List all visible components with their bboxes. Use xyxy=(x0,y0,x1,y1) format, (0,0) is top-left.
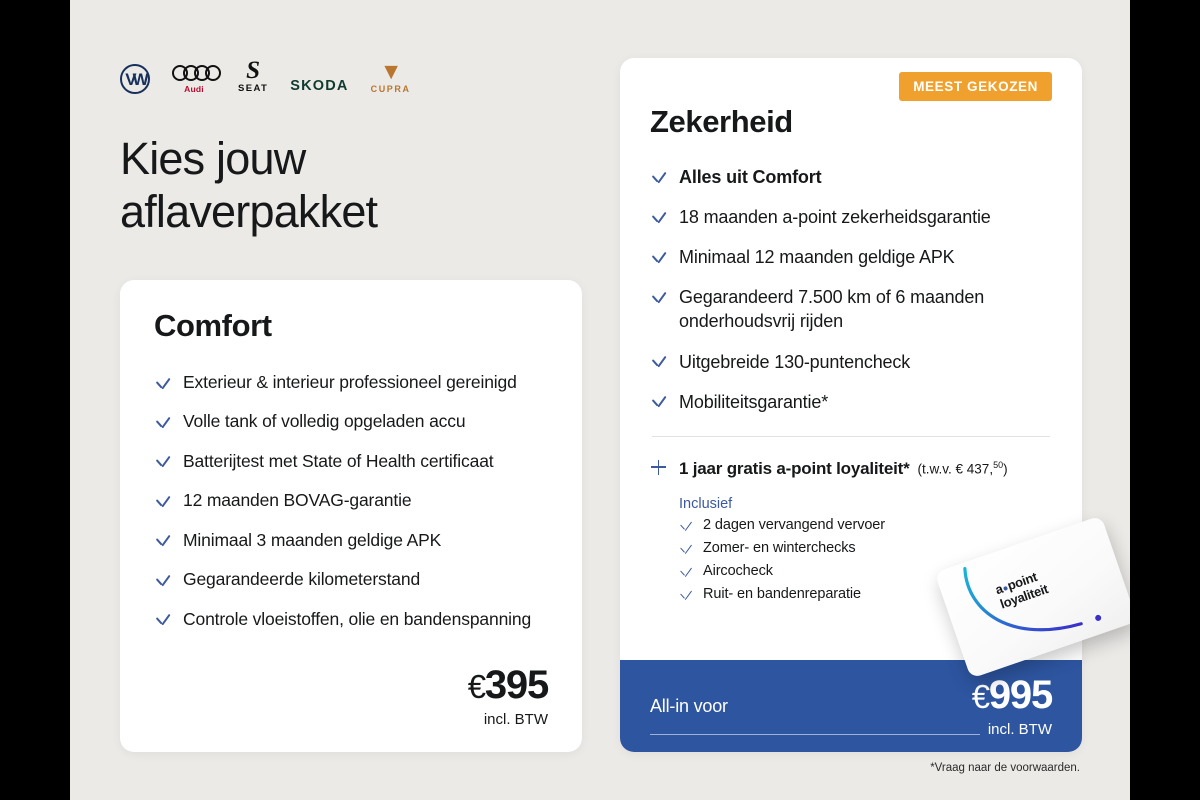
list-item: Gegarandeerd 7.500 km of 6 maanden onder… xyxy=(650,285,1052,333)
seat-s-icon: S xyxy=(246,60,260,83)
package-card-comfort: Comfort Exterieur & interieur profession… xyxy=(120,280,582,752)
list-item: Gegarandeerde kilometerstand xyxy=(154,568,548,591)
skoda-logo: SKODA xyxy=(290,78,348,94)
cupra-tribal-icon: ▼ xyxy=(380,62,402,82)
list-item: Controle vloeistoffen, olie en bandenspa… xyxy=(154,608,548,631)
zekerheid-price-block: €995 incl. BTW xyxy=(972,675,1052,738)
audi-logo: Audi xyxy=(172,65,216,94)
cupra-logo: ▼ CUPRA xyxy=(371,62,411,94)
sub-feature-label: 2 dagen vervangend vervoer xyxy=(703,517,885,533)
euro-symbol: € xyxy=(468,668,485,705)
check-icon xyxy=(679,566,693,580)
zekerheid-title: Zekerheid xyxy=(650,106,1052,137)
plus-icon xyxy=(650,459,667,476)
list-item: Volle tank of volledig opgeladen accu xyxy=(154,410,548,433)
comfort-title: Comfort xyxy=(154,310,548,341)
feature-label: Batterijtest met State of Health certifi… xyxy=(183,450,494,473)
list-item: 12 maanden BOVAG-garantie xyxy=(154,489,548,512)
zekerheid-price-amount: 995 xyxy=(989,673,1052,717)
feature-label: 18 maanden a-point zekerheidsgarantie xyxy=(679,205,991,229)
list-item: Uitgebreide 130-puntencheck xyxy=(650,350,1052,374)
volkswagen-logo: VW xyxy=(120,64,150,94)
loyalty-header: 1 jaar gratis a-point loyaliteit* (t.w.v… xyxy=(650,457,1052,479)
screenshot-stage: VW Audi S SEAT SKODA ▼ CUPRA Kies jouw a… xyxy=(0,0,1200,800)
sub-feature-label: Zomer- en winterchecks xyxy=(703,540,856,556)
list-item: Minimaal 12 maanden geldige APK xyxy=(650,245,1052,269)
all-in-label: All-in voor xyxy=(650,696,972,717)
list-item: Exterieur & interieur professioneel gere… xyxy=(154,371,548,394)
cupra-wordmark: CUPRA xyxy=(371,84,411,94)
feature-label: Gegarandeerd 7.500 km of 6 maanden onder… xyxy=(679,285,1052,333)
zekerheid-price: €995 xyxy=(972,675,1052,715)
feature-label: Minimaal 3 maanden geldige APK xyxy=(183,529,441,552)
loyalty-note-prefix: (t.w.v. € 437, xyxy=(918,462,994,477)
feature-label: 12 maanden BOVAG-garantie xyxy=(183,489,411,512)
sub-feature-label: Aircocheck xyxy=(703,563,773,579)
check-icon xyxy=(154,375,171,392)
check-icon xyxy=(650,289,667,306)
page-canvas: VW Audi S SEAT SKODA ▼ CUPRA Kies jouw a… xyxy=(70,0,1130,800)
brand-logo-strip: VW Audi S SEAT SKODA ▼ CUPRA xyxy=(120,52,411,94)
comfort-price-block: €395 incl. BTW xyxy=(468,665,548,728)
feature-label: Controle vloeistoffen, olie en bandenspa… xyxy=(183,608,531,631)
check-icon xyxy=(650,169,667,186)
seat-logo: S SEAT xyxy=(238,60,268,95)
divider xyxy=(652,436,1050,437)
check-icon xyxy=(154,533,171,550)
inclusief-label: Inclusief xyxy=(679,496,1052,512)
skoda-wordmark: SKODA xyxy=(290,78,348,94)
seat-wordmark: SEAT xyxy=(238,83,268,94)
loyalty-note-sup: 50 xyxy=(993,460,1003,470)
check-icon xyxy=(650,394,667,411)
check-icon xyxy=(154,454,171,471)
check-icon xyxy=(679,589,693,603)
list-item: 18 maanden a-point zekerheidsgarantie xyxy=(650,205,1052,229)
check-icon xyxy=(650,249,667,266)
check-icon xyxy=(650,354,667,371)
feature-label: Exterieur & interieur professioneel gere… xyxy=(183,371,517,394)
list-item: Batterijtest met State of Health certifi… xyxy=(154,450,548,473)
check-icon xyxy=(154,612,171,629)
feature-label: Gegarandeerde kilometerstand xyxy=(183,568,420,591)
footnote: *Vraag naar de voorwaarden. xyxy=(930,762,1080,774)
feature-label: Mobiliteitsgarantie* xyxy=(679,390,828,414)
comfort-feature-list: Exterieur & interieur professioneel gere… xyxy=(154,371,548,631)
zekerheid-feature-list: Alles uit Comfort 18 maanden a-point zek… xyxy=(650,165,1052,414)
sub-feature-label: Ruit- en bandenreparatie xyxy=(703,586,861,602)
list-item: Minimaal 3 maanden geldige APK xyxy=(154,529,548,552)
euro-symbol: € xyxy=(972,678,989,715)
zekerheid-price-footer: All-in voor €995 incl. BTW xyxy=(620,660,1082,752)
list-item: Mobiliteitsgarantie* xyxy=(650,390,1052,414)
feature-label: Volle tank of volledig opgeladen accu xyxy=(183,410,465,433)
check-icon xyxy=(679,543,693,557)
status-badge: MEEST GEKOZEN xyxy=(899,72,1052,101)
feature-label: Minimaal 12 maanden geldige APK xyxy=(679,245,955,269)
audi-wordmark: Audi xyxy=(184,84,204,94)
check-icon xyxy=(154,572,171,589)
page-title: Kies jouw aflaverpakket xyxy=(120,132,377,238)
loyalty-note-suffix: ) xyxy=(1003,462,1008,477)
audi-rings-icon xyxy=(172,65,216,81)
loyalty-title: 1 jaar gratis a-point loyaliteit* xyxy=(679,459,910,479)
list-item: Alles uit Comfort xyxy=(650,165,1052,189)
comfort-price: €395 xyxy=(468,665,548,705)
check-icon xyxy=(154,414,171,431)
check-icon xyxy=(679,520,693,534)
loyalty-value-note: (t.w.v. € 437,50) xyxy=(918,460,1008,477)
vw-icon: VW xyxy=(120,64,150,94)
list-item: 2 dagen vervangend vervoer xyxy=(679,517,1052,534)
comfort-price-amount: 395 xyxy=(485,663,548,707)
zekerheid-price-note: incl. BTW xyxy=(972,721,1052,738)
check-icon xyxy=(154,493,171,510)
comfort-price-note: incl. BTW xyxy=(468,711,548,728)
check-icon xyxy=(650,209,667,226)
feature-label: Uitgebreide 130-puntencheck xyxy=(679,350,910,374)
feature-label: Alles uit Comfort xyxy=(679,165,821,189)
